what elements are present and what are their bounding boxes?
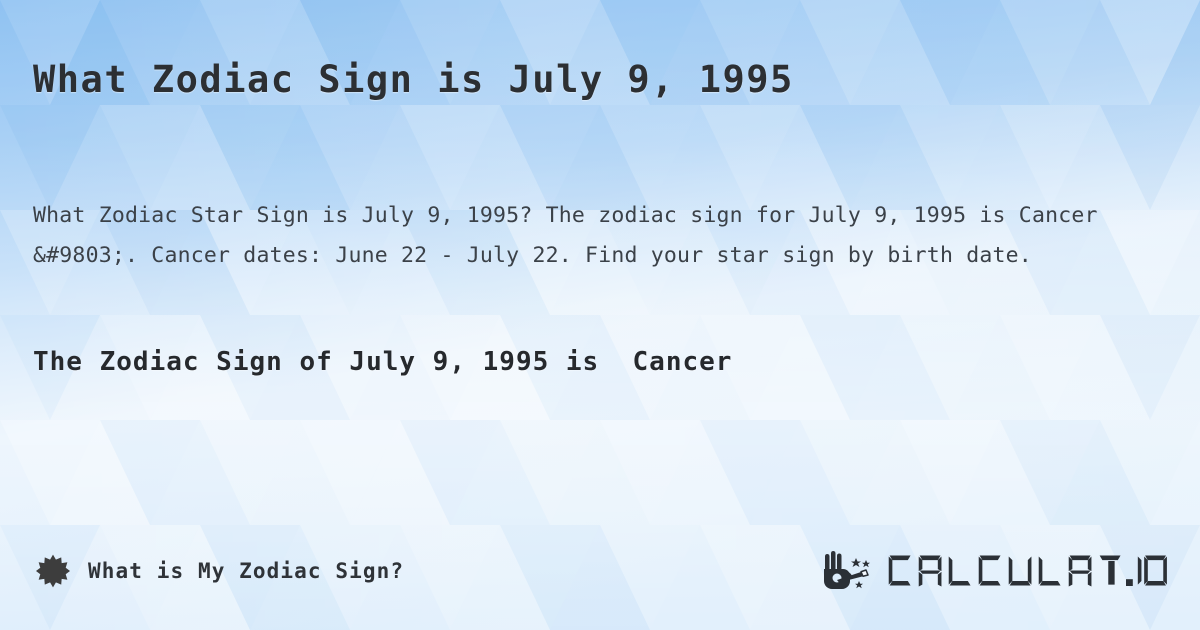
- zodiac-result-line: The Zodiac Sign of July 9, 1995 is Cance…: [33, 347, 732, 377]
- intro-paragraph: What Zodiac Star Sign is July 9, 1995? T…: [33, 196, 1153, 276]
- sunburst-icon: [36, 554, 70, 588]
- content-area: What Zodiac Sign is July 9, 1995 What Zo…: [0, 0, 1200, 630]
- page-title: What Zodiac Sign is July 9, 1995: [33, 58, 794, 101]
- magic-wand-hand-icon: [822, 551, 876, 591]
- footer-brand-group[interactable]: CALCULAT.IO: [822, 543, 1168, 599]
- footer: What is My Zodiac Sign?: [0, 543, 1200, 599]
- brand-wordmark-calculatio: CALCULAT.IO: [886, 551, 1168, 591]
- page-root: What Zodiac Sign is July 9, 1995 What Zo…: [0, 0, 1200, 630]
- footer-link-label: What is My Zodiac Sign?: [88, 559, 404, 583]
- footer-left-group[interactable]: What is My Zodiac Sign?: [36, 543, 404, 599]
